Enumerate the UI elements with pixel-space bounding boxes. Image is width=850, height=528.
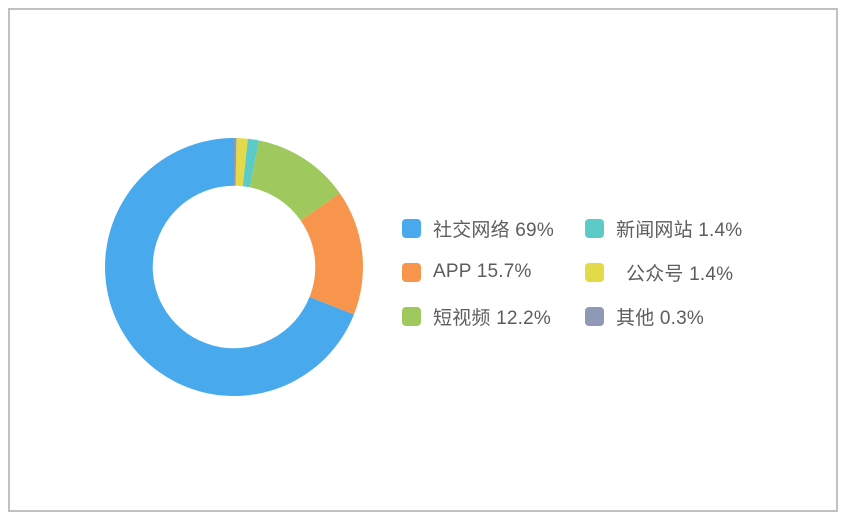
legend-item-official-account[interactable]: 公众号 1.4% [585,250,785,294]
legend-swatch-social-network [402,219,421,238]
legend-label-news-site: 新闻网站 1.4% [616,215,742,242]
legend-columns: 社交网络 69% APP 15.7% 短视频 12.2% 新闻网站 1. [402,206,802,338]
chart-legend: 社交网络 69% APP 15.7% 短视频 12.2% 新闻网站 1. [402,206,802,338]
legend-label-short-video: 短视频 12.2% [433,303,551,330]
legend-swatch-news-site [585,219,604,238]
legend-swatch-official-account [585,263,604,282]
donut-slice-group: 社交网络 69%APP 15.7%短视频 12.2%新闻网站 1.4%公众号 1… [105,138,363,396]
legend-column-right: 新闻网站 1.4% 公众号 1.4% 其他 0.3% [585,206,785,338]
donut-chart: 社交网络 69%APP 15.7%短视频 12.2%新闻网站 1.4%公众号 1… [96,128,372,406]
legend-swatch-app [402,263,421,282]
legend-item-social-network[interactable]: 社交网络 69% [402,206,585,250]
legend-swatch-short-video [402,307,421,326]
legend-item-other[interactable]: 其他 0.3% [585,294,785,338]
legend-item-news-site[interactable]: 新闻网站 1.4% [585,206,785,250]
legend-item-short-video[interactable]: 短视频 12.2% [402,294,585,338]
legend-label-social-network: 社交网络 69% [433,215,554,242]
legend-column-left: 社交网络 69% APP 15.7% 短视频 12.2% [402,206,585,338]
legend-label-official-account: 公众号 1.4% [626,259,733,286]
legend-item-app[interactable]: APP 15.7% [402,250,585,294]
legend-swatch-other [585,307,604,326]
donut-chart-svg: 社交网络 69%APP 15.7%短视频 12.2%新闻网站 1.4%公众号 1… [96,128,372,406]
screenshot-canvas: 社交网络 69%APP 15.7%短视频 12.2%新闻网站 1.4%公众号 1… [0,0,850,528]
legend-label-app: APP 15.7% [433,261,532,283]
chart-frame: 社交网络 69%APP 15.7%短视频 12.2%新闻网站 1.4%公众号 1… [8,8,838,512]
legend-label-other: 其他 0.3% [616,303,704,330]
